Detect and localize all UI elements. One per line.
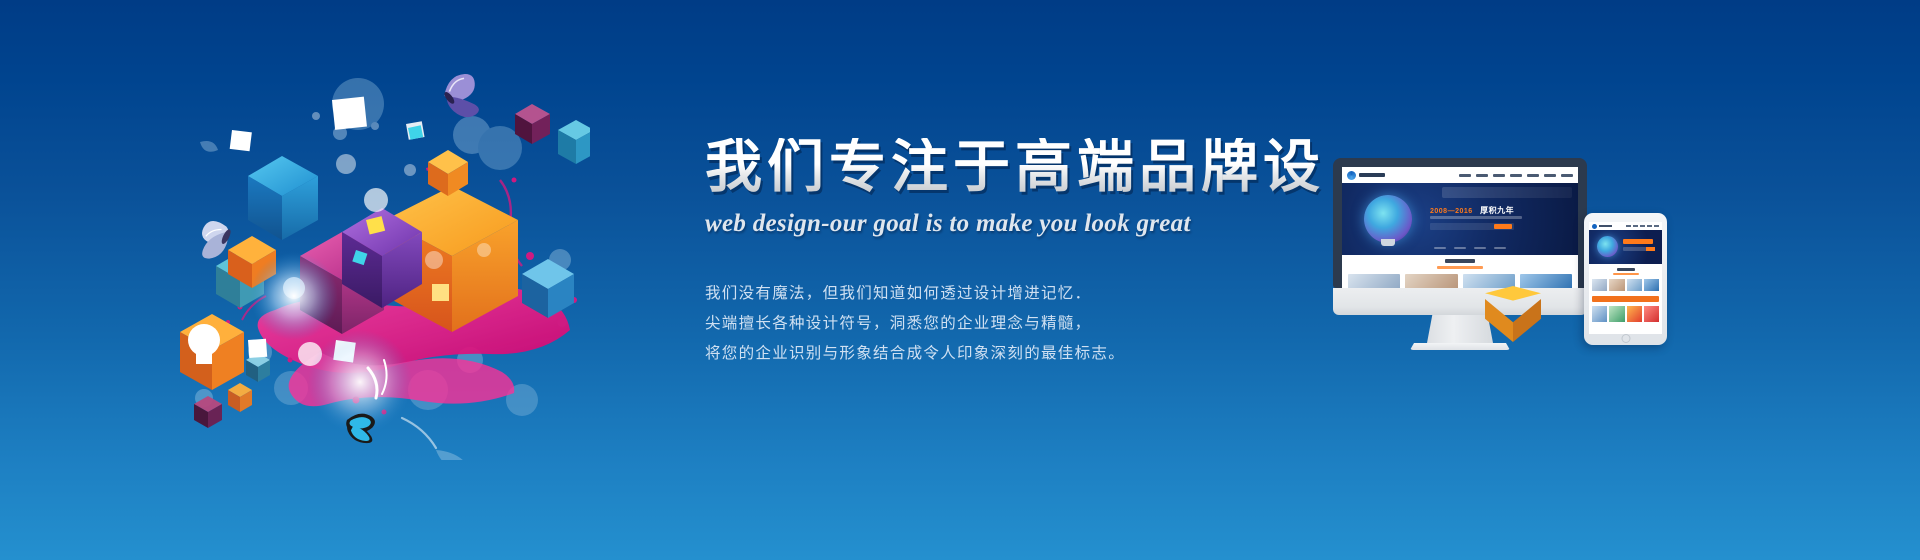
mock-nav-item — [1544, 174, 1556, 177]
mock-nav-item — [1527, 174, 1539, 177]
glow-b — [308, 330, 412, 434]
tablet-card — [1644, 279, 1659, 291]
mock-hero-subtext — [1430, 216, 1522, 219]
mock-site-logo-text — [1359, 173, 1385, 177]
butterfly-top-right — [439, 71, 485, 123]
mock-nav-item — [1459, 174, 1471, 177]
cube-teal-small — [216, 252, 264, 308]
tablet-mock-logo-icon — [1592, 224, 1597, 229]
mock-hero-dot — [1474, 247, 1486, 249]
mock-card — [1405, 274, 1457, 288]
monitor-screen: 2008—2016 厚积九年 — [1342, 167, 1578, 288]
mock-site-hero: 2008—2016 厚积九年 — [1342, 183, 1578, 255]
desktop-monitor-mockup: 2008—2016 厚积九年 — [1333, 158, 1587, 350]
tablet-hero-title — [1623, 239, 1653, 244]
mock-section-underline — [1437, 266, 1483, 269]
mock-nav-item — [1510, 174, 1522, 177]
tablet-card — [1609, 279, 1624, 291]
tablet-mock-section — [1589, 264, 1662, 334]
tablet-card — [1592, 279, 1607, 291]
cyan-tiles — [352, 125, 423, 265]
tablet-mock-nav-item — [1633, 225, 1638, 227]
cube-face-right — [1513, 299, 1541, 342]
cube-face-left — [1485, 299, 1513, 342]
butterfly-bottom — [344, 412, 375, 444]
cube-blue — [248, 156, 318, 240]
hero-banner: 我们专注于高端品牌设计 web design-our goal is to ma… — [0, 0, 1920, 560]
mock-hero-pagination — [1434, 247, 1506, 249]
tablet-cta-band — [1592, 296, 1659, 302]
bokeh-group — [195, 78, 571, 416]
paint-splash — [226, 167, 577, 415]
cube-orange-with-dot — [180, 314, 244, 390]
tablet-mock-nav-item — [1654, 225, 1659, 227]
mock-hero-slogan: 厚积九年 — [1480, 206, 1514, 215]
mock-site-nav-items — [1459, 174, 1573, 177]
white-tiles — [230, 97, 449, 363]
glow-a — [250, 252, 338, 340]
mock-hero-cta — [1430, 223, 1514, 230]
device-mockups: 2008—2016 厚积九年 — [1325, 158, 1655, 388]
description-line-1: 我们没有魔法，但我们知道如何透过设计增进记忆． — [705, 278, 1325, 308]
description-line-2: 尖端擅长各种设计符号，洞悉您的企业理念与精髓， — [705, 308, 1325, 338]
cube-orange-small-b — [428, 150, 468, 196]
tablet-mock-nav-item — [1640, 225, 1645, 227]
mock-hero-dot — [1434, 247, 1446, 249]
tablet-section-title — [1617, 268, 1635, 271]
tablet-mock-nav-items — [1626, 225, 1659, 227]
mock-card — [1348, 274, 1400, 288]
tablet-card-row — [1592, 279, 1659, 291]
page-title: 我们专注于高端品牌设计 — [705, 138, 1325, 198]
tablet-card — [1644, 306, 1659, 322]
tablet-section-underline — [1613, 273, 1639, 275]
cube-teal-topright — [558, 120, 590, 164]
abstract-artwork-svg — [170, 60, 590, 460]
tablet-mock-logo-text — [1599, 225, 1612, 227]
description-paragraph: 我们没有魔法，但我们知道如何透过设计增进记忆． 尖端擅长各种设计符号，洞悉您的企… — [705, 278, 1325, 368]
tablet-lightbulb-icon — [1597, 236, 1618, 257]
tablet-mock-hero — [1589, 230, 1662, 264]
orange-cube-decoration — [1485, 286, 1541, 342]
tablet-mockup — [1584, 213, 1667, 345]
tablet-card — [1609, 306, 1624, 322]
mock-site-logo-icon — [1347, 171, 1356, 180]
mock-hero-dot — [1454, 247, 1466, 249]
description-line-3: 将您的企业识别与形象结合成令人印象深刻的最佳标志。 — [705, 338, 1325, 368]
cube-cluster-bottom-left — [194, 353, 270, 428]
mock-hero-year: 2008—2016 厚积九年 — [1430, 205, 1514, 216]
cube-orange-large — [385, 186, 518, 332]
tablet-card — [1592, 306, 1607, 322]
banner-copy: 我们专注于高端品牌设计 web design-our goal is to ma… — [705, 138, 1325, 368]
cube-magenta — [300, 232, 384, 334]
tablet-card — [1627, 306, 1642, 322]
petal-shapes — [200, 141, 472, 460]
mock-section-title — [1445, 259, 1475, 263]
abstract-artwork — [170, 60, 590, 460]
cube-orange-small-a — [228, 236, 276, 288]
monitor-stand-base — [1410, 343, 1510, 350]
tablet-hero-cta — [1623, 247, 1655, 251]
tablet-card-row-2 — [1592, 306, 1659, 322]
mock-hero-ghost-text — [1442, 187, 1572, 198]
monitor-bezel-bottom — [1333, 288, 1587, 315]
mock-hero-year-range: 2008—2016 — [1430, 208, 1473, 215]
mock-nav-item — [1493, 174, 1505, 177]
tablet-mock-nav-item — [1626, 225, 1631, 227]
mock-hero-dot — [1494, 247, 1506, 249]
mock-site-section — [1342, 255, 1578, 288]
tablet-mock-nav-item — [1647, 225, 1652, 227]
tablet-card — [1627, 279, 1642, 291]
bokeh-front — [283, 154, 491, 366]
yellow-tiles — [366, 216, 385, 234]
monitor-frame: 2008—2016 厚积九年 — [1333, 158, 1587, 288]
lightbulb-icon — [1364, 195, 1412, 243]
tablet-screen — [1589, 222, 1662, 334]
cube-maroon-small — [515, 104, 550, 144]
tablet-mock-navbar — [1589, 222, 1662, 230]
mock-site-navbar — [1342, 167, 1578, 183]
white-strokes — [368, 360, 436, 448]
subtitle: web design-our goal is to make you look … — [705, 210, 1325, 238]
cube-blue-right — [522, 259, 574, 318]
mock-nav-item — [1476, 174, 1488, 177]
butterfly-left — [197, 219, 234, 263]
mock-nav-item — [1561, 174, 1573, 177]
monitor-stand-neck — [1427, 315, 1493, 343]
cube-purple — [342, 208, 422, 308]
